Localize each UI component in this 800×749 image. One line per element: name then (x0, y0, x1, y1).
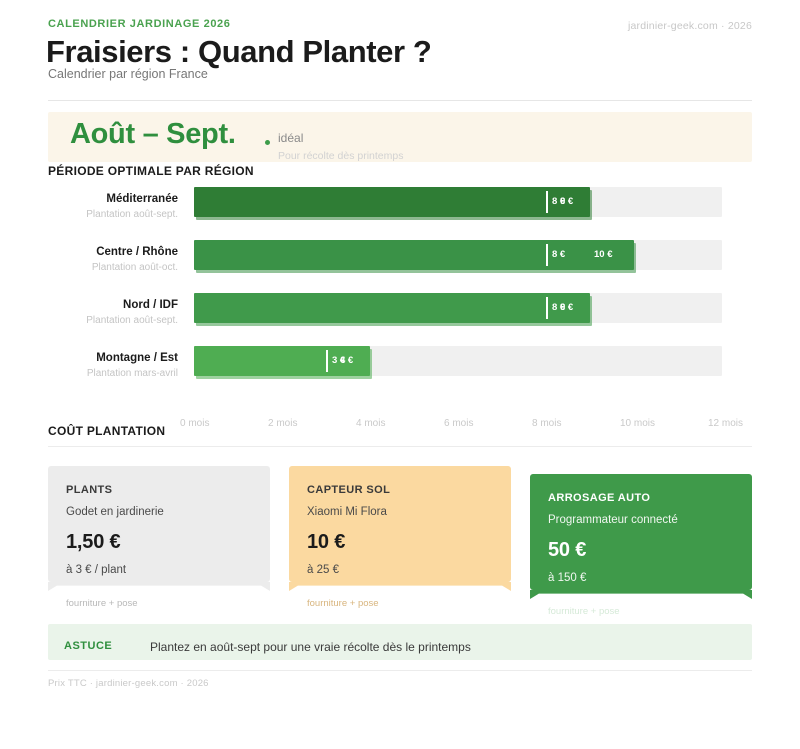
bar-sublabel: Plantation août-sept. (48, 315, 178, 326)
bar-category-label: Centre / Rhône (48, 246, 178, 258)
bar-category-label: Méditerranée (48, 193, 178, 205)
bar-fill (194, 187, 590, 217)
source-top-label: jardinier-geek.com · 2026 (628, 20, 752, 32)
bar-marker-line (326, 350, 328, 372)
bar-category-label: Nord / IDF (48, 299, 178, 311)
bar-track: 8 €9 € (194, 293, 722, 323)
cost-card-notch (530, 590, 752, 599)
bar-sublabel: Plantation août-oct. (48, 262, 178, 273)
bar-value-label: 10 € (594, 249, 613, 260)
axis-tick-label: 10 mois (620, 418, 655, 429)
cost-card-category: PLANTS (66, 484, 252, 496)
bar-sublabel: Plantation mars-avril (48, 368, 178, 379)
cost-card-price: 10 € (307, 531, 493, 554)
cost-card-notch (289, 582, 511, 591)
cost-card-footnote: fourniture + pose (307, 598, 493, 609)
bar-marker-line (546, 191, 548, 213)
cost-card-description: Godet en jardinerie (66, 506, 252, 518)
infographic-page: CALENDRIER JARDINAGE 2026 jardinier-geek… (0, 0, 800, 749)
axis-tick-label: 2 mois (268, 418, 297, 429)
bar-fill (194, 240, 634, 270)
bar-fill (194, 293, 590, 323)
cost-card-footnote: fourniture + pose (66, 598, 252, 609)
cost-card-price: 50 € (548, 539, 734, 562)
tip-tag: ASTUCE (64, 640, 112, 652)
hero-tag: idéal (278, 131, 303, 145)
bar-track: 8 €9 € (194, 187, 722, 217)
bar-value-label: 4 € (340, 355, 353, 366)
cost-card-subprice: à 3 € / plant (66, 564, 252, 576)
bar-value-label: 9 € (560, 196, 573, 207)
bar-track: 8 €10 € (194, 240, 722, 270)
cost-card-subprice: à 25 € (307, 564, 493, 576)
page-subtitle: Calendrier par région France (48, 67, 208, 81)
bullet-dot-icon (265, 140, 270, 145)
cost-card-category: ARROSAGE AUTO (548, 492, 734, 504)
section-label-regions: PÉRIODE OPTIMALE PAR RÉGION (48, 164, 254, 178)
kicker-label: CALENDRIER JARDINAGE 2026 (48, 18, 230, 30)
cost-card[interactable]: ARROSAGE AUTOProgrammateur connecté50 €à… (530, 474, 752, 590)
cost-card[interactable]: PLANTSGodet en jardinerie1,50 €à 3 € / p… (48, 466, 270, 582)
cost-card-price: 1,50 € (66, 531, 252, 554)
bar-sublabel: Plantation août-sept. (48, 209, 178, 220)
footer-note: Prix TTC · jardinier-geek.com · 2026 (48, 678, 209, 689)
axis-tick-label: 0 mois (180, 418, 209, 429)
divider-mid (48, 446, 752, 447)
divider-bottom (48, 670, 752, 671)
axis-tick-label: 12 mois (708, 418, 743, 429)
cost-card-footnote: fourniture + pose (548, 606, 734, 617)
axis-tick-label: 6 mois (444, 418, 473, 429)
tip-text: Plantez en août-sept pour une vraie réco… (150, 640, 471, 654)
hero-note: Pour récolte dès printemps (278, 150, 403, 162)
bar-marker-line (546, 244, 548, 266)
bar-marker-line (546, 297, 548, 319)
cost-card[interactable]: CAPTEUR SOLXiaomi Mi Flora10 €à 25 €four… (289, 466, 511, 582)
bar-track: 3 €4 € (194, 346, 722, 376)
bar-value-label: 8 € (552, 249, 565, 260)
page-title: Fraisiers : Quand Planter ? (46, 34, 431, 70)
axis-tick-label: 8 mois (532, 418, 561, 429)
axis-tick-label: 4 mois (356, 418, 385, 429)
cost-card-subprice: à 150 € (548, 572, 734, 584)
cost-card-category: CAPTEUR SOL (307, 484, 493, 496)
section-label-cost: COÛT PLANTATION (48, 424, 165, 438)
bar-value-label: 9 € (560, 302, 573, 313)
cost-card-description: Programmateur connecté (548, 514, 734, 526)
hero-value: Août – Sept. (70, 118, 236, 151)
cost-card-description: Xiaomi Mi Flora (307, 506, 493, 518)
divider-top (48, 100, 752, 101)
bar-category-label: Montagne / Est (48, 352, 178, 364)
cost-card-notch (48, 582, 270, 591)
